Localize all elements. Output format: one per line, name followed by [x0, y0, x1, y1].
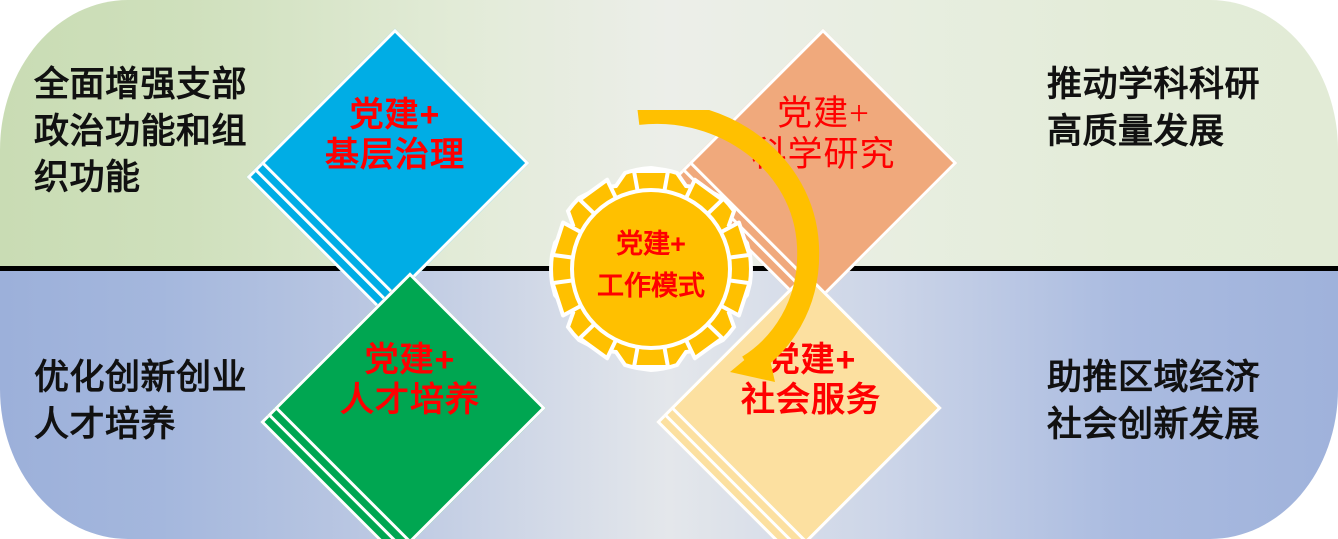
diamond-layer-front: [261, 29, 530, 298]
caption-top-left: 全面增强支部 政治功能和组 织功能: [34, 62, 294, 202]
caption-bottom-left: 优化创新创业 人才培养: [34, 355, 299, 448]
caption-bottom-right: 助推区域经济 社会创新发展: [1047, 355, 1317, 448]
diamond-layer-front: [274, 272, 546, 539]
diagram-canvas: 党建+ 基层治理 党建+ 科学研究 党建+ 人才培养 党建+ 社会服务: [0, 0, 1338, 539]
curved-arrow-icon: [612, 110, 842, 390]
caption-top-right: 推动学科科研 高质量发展: [1047, 62, 1312, 155]
flow-arrow: [612, 110, 842, 390]
